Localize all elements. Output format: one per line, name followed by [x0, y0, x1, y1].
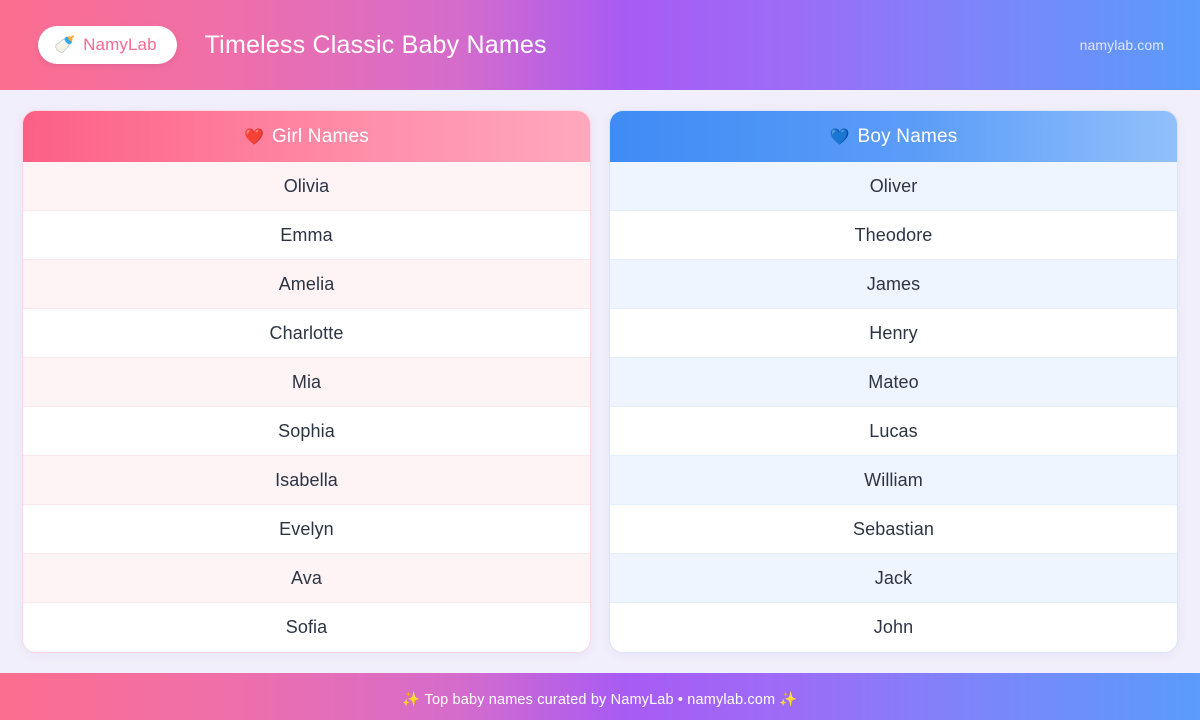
logo-pill[interactable]: 🍼 NamyLab: [38, 26, 177, 64]
list-item[interactable]: Jack: [610, 554, 1177, 603]
list-item[interactable]: James: [610, 260, 1177, 309]
girl-names-title: Girl Names: [272, 126, 369, 148]
list-item[interactable]: Ava: [23, 554, 590, 603]
boy-names-title: Boy Names: [857, 126, 957, 148]
list-item[interactable]: Amelia: [23, 260, 590, 309]
red-heart-icon: ❤️: [244, 129, 264, 145]
list-item[interactable]: Olivia: [23, 162, 590, 211]
baby-bottle-icon: 🍼: [54, 37, 75, 54]
header-site-url: namylab.com: [1080, 37, 1176, 53]
boy-names-card-header: 💙 Boy Names: [610, 111, 1177, 162]
app-header: 🍼 NamyLab Timeless Classic Baby Names na…: [0, 0, 1200, 90]
girl-names-card-header: ❤️ Girl Names: [23, 111, 590, 162]
list-item[interactable]: Emma: [23, 211, 590, 260]
list-item[interactable]: Henry: [610, 309, 1177, 358]
list-item[interactable]: Charlotte: [23, 309, 590, 358]
boy-names-card: 💙 Boy Names Oliver Theodore James Henry …: [609, 110, 1178, 653]
app-footer: ✨ Top baby names curated by NamyLab • na…: [0, 673, 1200, 720]
list-item[interactable]: John: [610, 603, 1177, 652]
list-item[interactable]: Sophia: [23, 407, 590, 456]
list-item[interactable]: Evelyn: [23, 505, 590, 554]
list-item[interactable]: Lucas: [610, 407, 1177, 456]
list-item[interactable]: Mia: [23, 358, 590, 407]
footer-credit: ✨ Top baby names curated by NamyLab • na…: [402, 691, 797, 708]
list-item[interactable]: Mateo: [610, 358, 1177, 407]
list-item[interactable]: William: [610, 456, 1177, 505]
girl-names-card: ❤️ Girl Names Olivia Emma Amelia Charlot…: [22, 110, 591, 653]
list-item[interactable]: Oliver: [610, 162, 1177, 211]
list-item[interactable]: Sofia: [23, 603, 590, 652]
list-item[interactable]: Theodore: [610, 211, 1177, 260]
list-item[interactable]: Isabella: [23, 456, 590, 505]
page-title: Timeless Classic Baby Names: [205, 31, 547, 60]
names-columns: ❤️ Girl Names Olivia Emma Amelia Charlot…: [0, 90, 1200, 673]
boy-names-list: Oliver Theodore James Henry Mateo Lucas …: [610, 162, 1177, 652]
logo-text: NamyLab: [83, 35, 156, 55]
girl-names-list: Olivia Emma Amelia Charlotte Mia Sophia …: [23, 162, 590, 652]
list-item[interactable]: Sebastian: [610, 505, 1177, 554]
blue-heart-icon: 💙: [830, 129, 850, 145]
